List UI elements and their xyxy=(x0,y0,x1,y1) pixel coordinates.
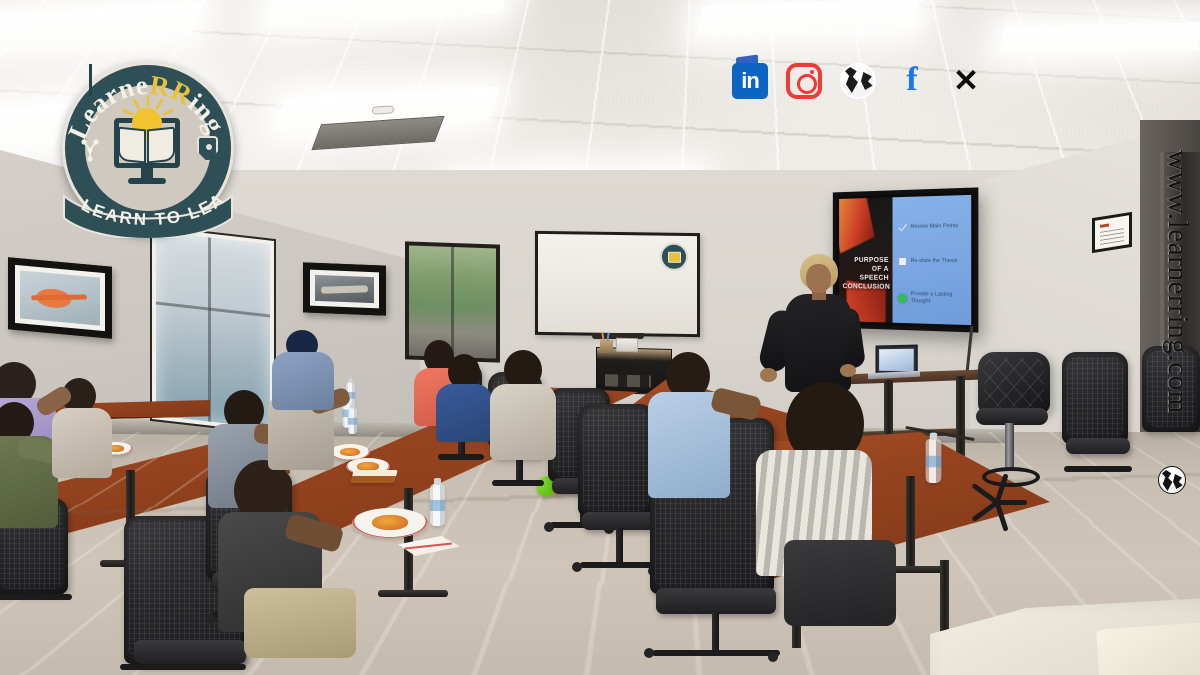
instagram-icon xyxy=(786,63,822,99)
social-media-icons: in f ✕ xyxy=(730,57,996,105)
stool-foot-ring xyxy=(982,467,1040,487)
learnerring-logo: LearneRRing xyxy=(62,62,234,234)
smoke-detector-icon xyxy=(372,105,395,115)
watermark-globe-icon xyxy=(1158,466,1186,494)
classroom-photo: PURPOSE OF A SPEECH CONCLUSION Review Ma… xyxy=(0,0,1200,675)
slide-content-panel: Review Main Points Re-state the Thesis P… xyxy=(892,195,971,325)
av-cart-leg xyxy=(956,376,965,462)
checkmark-icon xyxy=(898,223,907,232)
table-foot xyxy=(378,590,448,597)
book xyxy=(350,470,398,483)
water-bottle xyxy=(926,439,942,483)
document-icon xyxy=(898,257,907,266)
slide-title: PURPOSE OF A SPEECH CONCLUSION xyxy=(843,255,889,291)
green-dot-icon xyxy=(898,294,907,303)
tissue-box xyxy=(616,338,638,352)
slide-bullet-label: Provide a Lasting Thought xyxy=(911,291,966,306)
window-mullion xyxy=(156,301,270,317)
website-link[interactable] xyxy=(838,61,878,101)
supply-cup xyxy=(600,340,613,353)
paper-plate xyxy=(352,508,428,538)
facebook-icon: f xyxy=(894,63,930,99)
presenter-face xyxy=(806,264,831,293)
helicopter-photo xyxy=(20,270,100,325)
slide-bullet-label: Re-state the Thesis xyxy=(911,258,958,265)
logo-book-glyph xyxy=(668,251,681,262)
presenter-hand xyxy=(840,364,856,377)
water-bottle xyxy=(348,408,357,434)
certificate-frame xyxy=(1092,212,1132,253)
osprey-photo-frame xyxy=(303,262,386,315)
instagram-link[interactable] xyxy=(784,61,824,101)
table-leg xyxy=(906,476,915,572)
exterior-window xyxy=(405,241,500,362)
slide-bullet-label: Review Main Points xyxy=(911,223,959,231)
logo-book-icon xyxy=(118,128,176,162)
globe-icon xyxy=(840,63,876,99)
whiteboard xyxy=(535,231,700,337)
ceiling-light-panel xyxy=(999,22,1200,53)
stool-backrest xyxy=(978,352,1050,414)
slide-bullet: Provide a Lasting Thought xyxy=(898,291,966,306)
linkedin-link[interactable]: in xyxy=(730,61,770,101)
linkedin-icon: in xyxy=(732,63,768,99)
slide-bullet: Re-state the Thesis xyxy=(898,257,966,266)
water-bottle xyxy=(430,484,445,526)
logo-network-icon xyxy=(78,138,102,162)
logo-tagline-banner: LEARN TO LEAD xyxy=(60,174,236,238)
osprey-photo xyxy=(315,275,374,303)
display-screen: PURPOSE OF A SPEECH CONCLUSION Review Ma… xyxy=(839,195,971,325)
presenter-hand xyxy=(760,368,777,382)
x-link[interactable]: ✕ xyxy=(946,61,986,101)
x-icon: ✕ xyxy=(948,63,984,99)
facebook-link[interactable]: f xyxy=(892,61,932,101)
window-mullion xyxy=(208,237,211,421)
slide-bullet: Review Main Points xyxy=(898,221,966,231)
helicopter-photo-frame xyxy=(8,257,112,338)
whiteboard-logo-decal xyxy=(660,243,688,271)
logo-book-spine xyxy=(89,64,92,96)
website-watermark: www.learnerring.com xyxy=(1161,150,1194,414)
stool-base xyxy=(976,490,1048,516)
stool-cylinder xyxy=(1005,423,1014,469)
